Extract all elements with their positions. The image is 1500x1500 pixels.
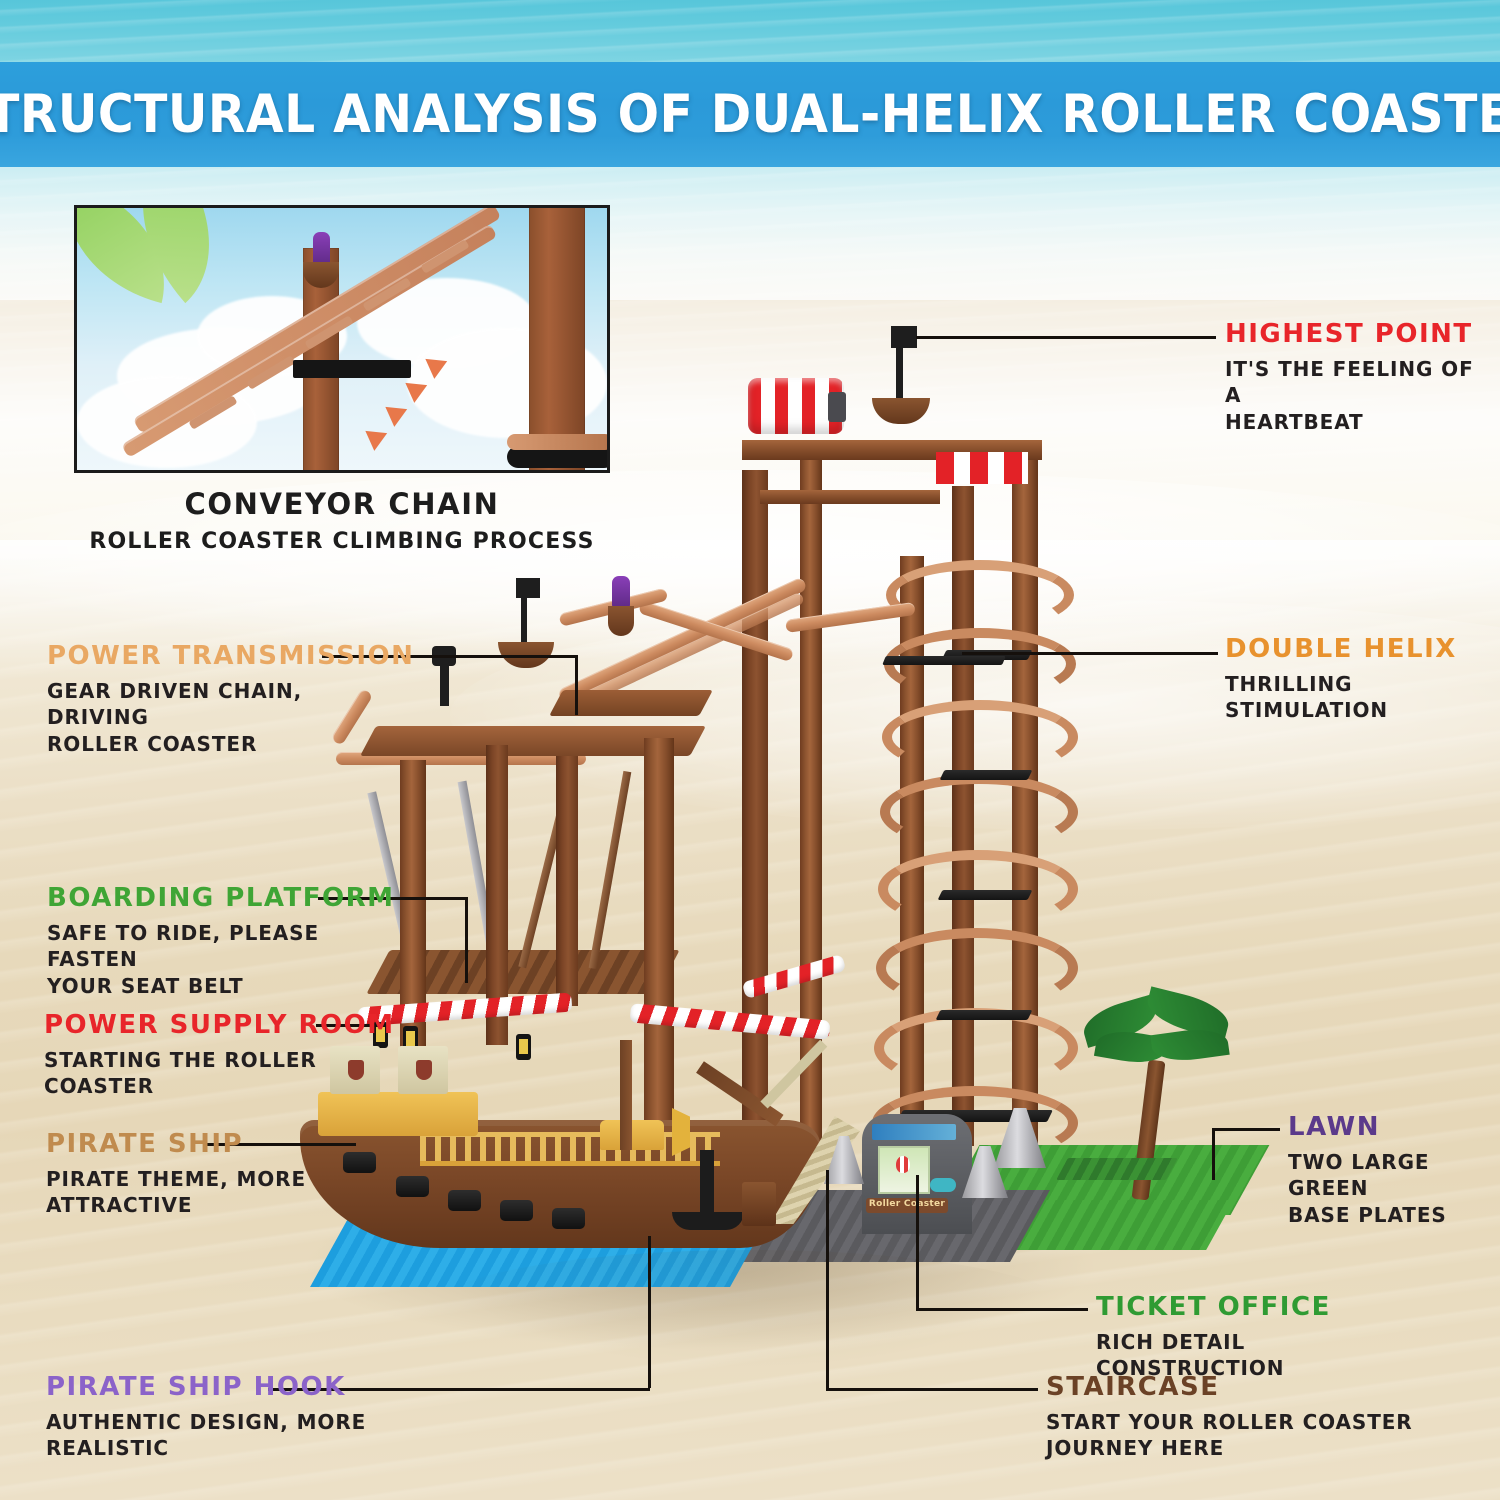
callout-boarding-platform: BOARDING PLATFORM SAFE TO RIDE, PLEASE F… [47,884,347,1000]
left-flag [516,578,540,598]
callout-title: DOUBLE HELIX [1225,635,1495,664]
inset-back-pillar [529,205,585,473]
ship-cannon-2 [396,1176,429,1197]
callout-description: AUTHENTIC DESIGN, MORE REALISTIC [46,1409,466,1463]
callout-description: SAFE TO RIDE, PLEASE FASTEN YOUR SEAT BE… [47,920,347,1000]
callout-title: STAIRCASE [1046,1373,1466,1402]
top-flag [891,326,917,348]
ship-cannon-5 [552,1208,585,1229]
leader-line-segment [826,1388,1038,1391]
top-flag-pole [896,348,903,402]
leader-line-elbow [648,1236,651,1388]
callout-highest-point: HIGHEST POINT IT'S THE FEELING OF A HEAR… [1225,320,1495,436]
ship-cannon-4 [500,1200,533,1221]
leader-line-elbow [826,1170,829,1388]
top-bowl [872,398,930,424]
inset-caption-title: CONVEYOR CHAIN [74,487,610,521]
callout-description: IT'S THE FEELING OF A HEARTBEAT [1225,356,1495,436]
callout-title: POWER SUPPLY ROOM [44,1011,344,1040]
callout-power-transmission: POWER TRANSMISSION GEAR DRIVEN CHAIN, DR… [47,642,347,758]
red-white-banner [936,452,1028,484]
gear-motor-shaft [440,664,449,706]
callout-title: LAWN [1288,1113,1498,1142]
helix-ring-4 [880,774,1078,850]
leader-line-segment [916,336,1216,339]
title-banner: STRUCTURAL ANALYSIS OF DUAL-HELIX ROLLER… [0,62,1500,167]
leader-line-elbow [1212,1128,1215,1180]
callout-title: BOARDING PLATFORM [47,884,347,913]
inset-curved-rail [507,434,610,450]
tower-post-left [742,470,768,1160]
leader-line-elbow [575,655,578,715]
hot-air-balloon-icon [896,1156,910,1173]
lift-track-upper [557,577,808,704]
callout-staircase: STAIRCASE START YOUR ROLLER COASTER JOUR… [1046,1373,1466,1462]
minifigure-bowl [608,606,634,636]
callout-title: TICKET OFFICE [1096,1293,1436,1322]
top-sub-beam [760,490,940,504]
callout-description: THRILLING STIMULATION [1225,671,1495,725]
helix-plate-3 [938,890,1033,900]
ticket-counter-prop [930,1178,956,1192]
platform-strut-4 [589,771,632,969]
leader-line-elbow [465,897,468,983]
helix-ring-3 [882,700,1078,774]
helix-ring-7 [874,1008,1078,1088]
inset-black-bracket [293,360,411,378]
helix-ring-6 [876,928,1078,1008]
ship-anchor-hook [672,1212,744,1230]
left-support-post-3 [556,756,578,1006]
ship-crest-1 [348,1060,364,1080]
callout-description: PIRATE THEME, MORE ATTRACTIVE [46,1166,346,1220]
helix-ring-1 [886,560,1074,630]
leader-line-segment [962,652,1218,655]
callout-description: TWO LARGE GREEN BASE PLATES [1288,1149,1498,1229]
page-title: STRUCTURAL ANALYSIS OF DUAL-HELIX ROLLER… [0,84,1500,145]
barrel-prop [742,1182,776,1226]
ship-cannon-1 [343,1152,376,1173]
ship-cannon-3 [448,1190,481,1211]
callout-double-helix: DOUBLE HELIX THRILLING STIMULATION [1225,635,1495,724]
callout-lawn: LAWN TWO LARGE GREEN BASE PLATES [1288,1113,1498,1229]
station-deck [549,690,713,716]
callout-pirate-ship-hook: PIRATE SHIP HOOK AUTHENTIC DESIGN, MORE … [46,1373,466,1462]
callout-ticket-office: TICKET OFFICE RICH DETAIL CONSTRUCTION [1096,1293,1436,1382]
callout-title: POWER TRANSMISSION [47,642,347,671]
ship-gold-ornament [600,1120,664,1150]
left-flag-pole [521,598,527,644]
helix-plate-top [882,656,1006,665]
helix-ring-5 [878,850,1078,928]
callout-description: GEAR DRIVEN CHAIN, DRIVING ROLLER COASTE… [47,678,347,758]
inset-minifigure [313,232,330,266]
callout-description: START YOUR ROLLER COASTER JOURNEY HERE [1046,1409,1466,1463]
minifigure-purple [612,576,630,608]
lawn-bushes [1056,1158,1178,1180]
inset-caption: CONVEYOR CHAIN ROLLER COASTER CLIMBING P… [74,487,610,554]
roller-coaster-sign: Roller Coaster [866,1198,948,1213]
ticket-office-top-sign [872,1124,956,1140]
leader-line-segment [916,1308,1088,1311]
helix-plate-2 [940,770,1033,780]
conveyor-chain-inset-photo [74,205,610,473]
callout-title: PIRATE SHIP [46,1130,346,1159]
lantern-3 [516,1034,531,1060]
leader-line-segment [1212,1128,1280,1131]
helix-plate-4 [936,1010,1033,1020]
drum-motor [828,392,846,422]
leader-line-elbow [916,1175,919,1308]
ship-crest-2 [416,1060,432,1080]
callout-pirate-ship: PIRATE SHIP PIRATE THEME, MORE ATTRACTIV… [46,1130,346,1219]
callout-title: HIGHEST POINT [1225,320,1495,349]
inset-caption-subtitle: ROLLER COASTER CLIMBING PROCESS [74,529,610,554]
callout-title: PIRATE SHIP HOOK [46,1373,466,1402]
callout-description: STARTING THE ROLLER COASTER [44,1047,344,1101]
ship-mast [620,1040,632,1150]
callout-power-supply-room: POWER SUPPLY ROOM STARTING THE ROLLER CO… [44,1011,344,1100]
